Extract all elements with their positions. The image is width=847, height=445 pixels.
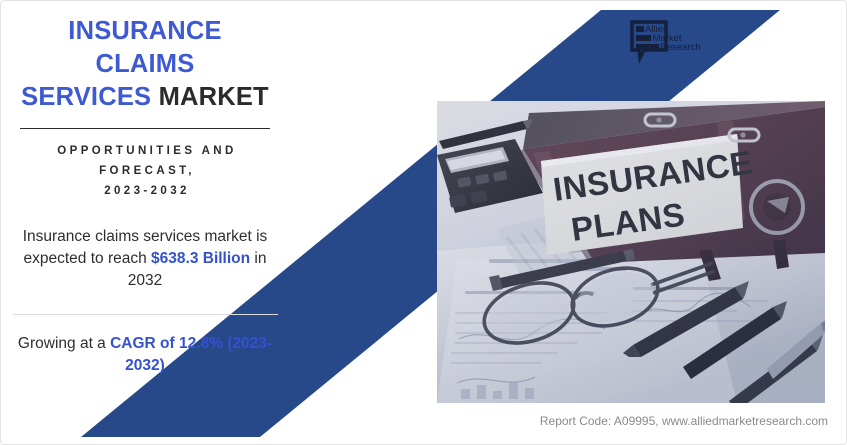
subtitle: OPPORTUNITIES AND FORECAST, 2023-2032 (1, 142, 289, 201)
infographic-card: Allied Market Research INSURANCE CLAIMS … (0, 0, 847, 445)
stat-cagr-value: CAGR of 12.8% (2023-2032) (110, 335, 272, 374)
subtitle-line-3: 2023-2032 (104, 185, 190, 197)
subtitle-line-1: OPPORTUNITIES AND (57, 145, 236, 157)
title-line-1: INSURANCE (68, 17, 221, 45)
svg-text:Research: Research (660, 42, 701, 53)
stat-divider (13, 314, 278, 315)
title-line-3-rest: MARKET (159, 83, 269, 111)
stat-cagr-prefix: Growing at a (18, 335, 110, 352)
stat-cagr: Growing at a CAGR of 12.8% (2023-2032) (1, 333, 289, 377)
footer-report-code: Report Code: A09995, www.alliedmarketres… (1, 414, 828, 428)
stat-market-value: $638.3 Billion (151, 250, 250, 267)
subtitle-line-2: FORECAST, (99, 165, 195, 177)
allied-market-research-logo: Allied Market Research (629, 20, 705, 64)
stat-market-size: Insurance claims services market is expe… (1, 226, 289, 292)
page-title: INSURANCE CLAIMS SERVICES MARKET (1, 15, 289, 114)
title-line-2: CLAIMS (96, 50, 195, 78)
text-column: INSURANCE CLAIMS SERVICES MARKET OPPORTU… (1, 15, 289, 377)
hero-photo: INSURANCE PLANS (437, 101, 825, 403)
title-divider (20, 128, 270, 129)
title-line-3-highlight: SERVICES (21, 83, 151, 111)
